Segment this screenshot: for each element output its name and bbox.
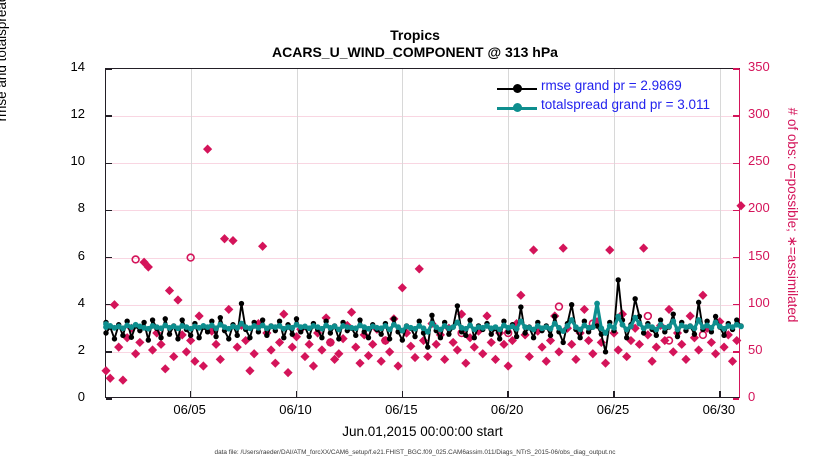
series-marker [450, 324, 456, 330]
obs-assimilated-marker [652, 343, 661, 352]
series-marker [146, 337, 151, 342]
obs-assimilated-marker [300, 352, 309, 361]
series-marker [632, 315, 638, 321]
series-marker [129, 335, 134, 340]
series-marker [307, 334, 312, 339]
obs-assimilated-marker [216, 355, 225, 364]
obs-assimilated-marker [478, 349, 487, 358]
series-marker [378, 331, 383, 336]
obs-assimilated-marker [601, 359, 610, 368]
obs-assimilated-marker [279, 310, 288, 319]
series-marker [603, 349, 608, 354]
series-marker [399, 328, 405, 334]
series-marker [637, 321, 643, 327]
series-marker [518, 318, 524, 324]
series-marker [565, 323, 571, 329]
series-marker [412, 334, 417, 339]
obs-assimilated-marker [258, 242, 267, 251]
series-marker [120, 333, 125, 338]
series-marker [281, 335, 286, 340]
series-marker [654, 333, 659, 338]
series-marker [319, 335, 324, 340]
obs-assimilated-marker [368, 340, 377, 349]
obs-assimilated-marker [182, 347, 191, 356]
obs-assimilated-marker [440, 355, 449, 364]
series-marker [463, 333, 468, 338]
x-axis-tick-06/05: 06/05 [155, 402, 225, 417]
page-title: Tropics [0, 27, 830, 43]
series-marker [666, 324, 672, 330]
obs-assimilated-marker [491, 355, 500, 364]
obs-assimilated-marker [639, 244, 648, 253]
series-marker [497, 327, 503, 333]
obs-assimilated-marker [432, 340, 441, 349]
series-marker [522, 330, 527, 335]
obs-assimilated-marker [199, 361, 208, 370]
obs-assimilated-marker [584, 336, 593, 345]
obs-assimilated-marker [283, 368, 292, 377]
series-marker [548, 326, 554, 332]
series-marker [336, 336, 341, 341]
obs-assimilated-marker [635, 340, 644, 349]
series-marker [387, 327, 393, 333]
series-marker [425, 344, 430, 349]
y-axis-right-tick-200: 200 [748, 200, 794, 215]
series-marker [264, 333, 269, 338]
series-marker [353, 333, 358, 338]
series-marker [180, 317, 185, 322]
x-axis-tick-06/20: 06/20 [472, 402, 542, 417]
series-marker [675, 327, 681, 333]
obs-assimilated-marker [118, 376, 127, 385]
obs-assimilated-marker [470, 343, 479, 352]
obs-assimilated-markers [101, 145, 745, 385]
series-marker [615, 314, 621, 320]
series-marker [713, 314, 718, 319]
series-marker [624, 335, 629, 340]
series-marker [429, 313, 434, 318]
obs-assimilated-marker [707, 338, 716, 347]
page-subtitle: ACARS_U_WIND_COMPONENT @ 313 hPa [0, 44, 830, 60]
obs-assimilated-marker [169, 352, 178, 361]
x-axis-tick-06/10: 06/10 [261, 402, 331, 417]
legend-label: rmse grand pr = 2.9869 [541, 78, 682, 93]
series-marker [196, 335, 201, 340]
series-marker [260, 317, 265, 322]
obs-assimilated-marker [487, 338, 496, 347]
series-marker [235, 333, 240, 338]
series-marker [598, 325, 604, 331]
y-axis-right-tick-150: 150 [748, 248, 794, 263]
series-marker [472, 335, 477, 340]
series-marker [497, 336, 502, 341]
obs-assimilated-marker [732, 336, 741, 345]
chart-page: Tropics ACARS_U_WIND_COMPONENT @ 313 hPa… [0, 0, 830, 470]
series-marker [455, 303, 460, 308]
series-marker [103, 321, 109, 327]
obs-assimilated-marker [114, 343, 123, 352]
series-marker [328, 330, 333, 335]
obs-assimilated-marker [669, 347, 678, 356]
legend-marker-dot [513, 84, 522, 93]
series-marker [632, 296, 637, 301]
series-marker [167, 331, 172, 336]
series-marker [357, 317, 362, 322]
obs-assimilated-marker [351, 343, 360, 352]
obs-assimilated-marker [728, 357, 737, 366]
series-marker [175, 336, 180, 341]
series-marker [620, 322, 626, 328]
obs-assimilated-marker [423, 352, 432, 361]
obs-assimilated-marker [736, 201, 745, 210]
legend-label: totalspread grand pr = 3.011 [541, 97, 710, 112]
series-marker [226, 336, 231, 341]
series-marker [552, 314, 557, 319]
series-marker [628, 324, 634, 330]
series-marker [141, 320, 146, 325]
obs-assimilated-marker [449, 338, 458, 347]
legend-marker-dot [513, 103, 522, 112]
obs-assimilated-marker [385, 347, 394, 356]
obs-assimilated-marker [377, 357, 386, 366]
obs-assimilated-marker [288, 343, 297, 352]
series-marker [590, 324, 596, 330]
obs-assimilated-marker [398, 283, 407, 292]
obs-assimilated-marker [233, 343, 242, 352]
obs-assimilated-marker [224, 305, 233, 314]
obs-assimilated-marker [220, 234, 229, 243]
series-marker [514, 326, 520, 332]
obs-assimilated-marker [161, 364, 170, 373]
series-marker [518, 304, 523, 309]
datafile-caption: data file: /Users/raeder/DAI/ATM_forcXX/… [0, 449, 830, 456]
series-marker [603, 330, 609, 336]
series-marker [150, 317, 155, 322]
x-axis-tick-06/25: 06/25 [578, 402, 648, 417]
legend-item-totalspread[interactable]: totalspread grand pr = 3.011 [497, 99, 737, 118]
obs-assimilated-marker [406, 342, 415, 351]
obs-assimilated-marker [686, 311, 695, 320]
obs-assimilated-marker [211, 340, 220, 349]
series-marker [234, 325, 240, 331]
obs-assimilated-marker [173, 295, 182, 304]
obs-assimilated-marker [101, 366, 110, 375]
series-marker [738, 324, 744, 330]
obs-assimilated-marker [537, 343, 546, 352]
series-marker [696, 317, 702, 323]
y-axis-left-tick-10: 10 [45, 153, 85, 168]
series-marker [531, 335, 536, 340]
series-marker [366, 335, 371, 340]
y-axis-right-tick-50: 50 [748, 342, 794, 357]
y-axis-left-tick-8: 8 [45, 200, 85, 215]
obs-assimilated-marker [250, 349, 259, 358]
series-marker [467, 323, 473, 329]
obs-assimilated-marker [156, 340, 165, 349]
y-axis-left-tick-12: 12 [45, 106, 85, 121]
obs-assimilated-marker [694, 345, 703, 354]
obs-assimilated-marker [309, 361, 318, 370]
data-series-canvas [106, 69, 741, 399]
obs-assimilated-marker [580, 305, 589, 314]
obs-assimilated-marker [698, 291, 707, 300]
obs-assimilated-marker [135, 338, 144, 347]
obs-assimilated-marker [394, 361, 403, 370]
obs-assimilated-marker [228, 236, 237, 245]
obs-assimilated-marker [453, 345, 462, 354]
obs-assimilated-marker [355, 359, 364, 368]
y-axis-left-tick-6: 6 [45, 248, 85, 263]
series-marker [454, 319, 460, 325]
obs-possible-marker [132, 256, 139, 263]
obs-assimilated-marker [305, 340, 314, 349]
obs-assimilated-marker [267, 345, 276, 354]
series-marker [569, 302, 574, 307]
y-axis-right-tick-350: 350 [748, 59, 794, 74]
obs-assimilated-marker [719, 343, 728, 352]
series-marker [561, 340, 566, 345]
y-axis-right-tick-250: 250 [748, 153, 794, 168]
series-marker [103, 330, 108, 335]
series-marker [611, 325, 617, 331]
obs-assimilated-marker [571, 355, 580, 364]
obs-assimilated-marker [482, 311, 491, 320]
series-marker [438, 335, 443, 340]
obs-assimilated-marker [588, 349, 597, 358]
obs-assimilated-marker [317, 345, 326, 354]
series-marker [446, 331, 451, 336]
series-marker [387, 336, 392, 341]
y-axis-left-tick-0: 0 [45, 389, 85, 404]
series-marker [467, 317, 472, 322]
series-marker [218, 315, 223, 320]
series-marker [577, 327, 583, 333]
series-marker [239, 301, 244, 306]
obs-assimilated-marker [554, 347, 563, 356]
obs-assimilated-marker [516, 291, 525, 300]
series-marker [594, 301, 600, 307]
obs-assimilated-marker [410, 353, 419, 362]
series-marker [713, 319, 719, 325]
series-marker [670, 318, 676, 324]
y-axis-left-tick-4: 4 [45, 295, 85, 310]
obs-assimilated-marker [461, 359, 470, 368]
series-marker [577, 335, 582, 340]
series-marker [247, 335, 252, 340]
obs-assimilated-marker [525, 352, 534, 361]
obs-assimilated-marker [504, 361, 513, 370]
series-marker [653, 327, 659, 333]
series-marker [616, 277, 621, 282]
obs-assimilated-marker [106, 374, 115, 383]
series-marker [552, 321, 558, 327]
obs-assimilated-marker [203, 145, 212, 154]
x-axis-tick-06/30: 06/30 [684, 402, 754, 417]
y-axis-right-tick-0: 0 [748, 389, 794, 404]
series-marker [721, 333, 726, 338]
obs-assimilated-marker [271, 359, 280, 368]
obs-assimilated-marker [190, 357, 199, 366]
series-marker [692, 325, 698, 331]
series-marker [708, 325, 714, 331]
series-marker [560, 328, 566, 334]
series-marker [569, 317, 575, 323]
y-axis-left-tick-2: 2 [45, 342, 85, 357]
obs-assimilated-marker [529, 245, 538, 254]
obs-assimilated-marker [148, 345, 157, 354]
obs-assimilated-marker [415, 264, 424, 273]
obs-possible-marker [644, 313, 651, 320]
series-marker [675, 334, 680, 339]
series-marker [696, 300, 701, 305]
series-marker [158, 335, 163, 340]
series-marker [400, 337, 405, 342]
obs-possible-marker [556, 303, 563, 310]
y-axis-left-tick-14: 14 [45, 59, 85, 74]
series-marker [671, 311, 676, 316]
obs-assimilated-marker [677, 340, 686, 349]
series-marker [290, 331, 295, 336]
series-marker [425, 329, 431, 335]
series-marker [294, 316, 299, 321]
obs-assimilated-marker [165, 286, 174, 295]
obs-assimilated-marker [567, 340, 576, 349]
series-marker [489, 331, 494, 336]
series-marker [112, 336, 117, 341]
obs-assimilated-marker [605, 245, 614, 254]
series-marker [391, 316, 396, 321]
obs-assimilated-marker [559, 244, 568, 253]
x-axis-label: Jun.01,2015 00:00:00 start [105, 424, 740, 439]
series-marker [548, 333, 553, 338]
obs-assimilated-marker [347, 308, 356, 317]
obs-assimilated-marker [364, 351, 373, 360]
y-axis-right-tick-300: 300 [748, 106, 794, 121]
series-marker [188, 333, 193, 338]
obs-possible-marker [700, 331, 707, 338]
obs-assimilated-marker [614, 345, 623, 354]
obs-assimilated-marker [542, 357, 551, 366]
y-axis-right-tick-100: 100 [748, 295, 794, 310]
obs-assimilated-marker [131, 349, 140, 358]
obs-assimilated-marker [648, 357, 657, 366]
obs-assimilated-marker [711, 349, 720, 358]
obs-assimilated-marker [195, 311, 204, 320]
obs-assimilated-marker [622, 352, 631, 361]
series-marker [514, 334, 519, 339]
chart-legend: rmse grand pr = 2.9869totalspread grand … [497, 80, 737, 118]
obs-assimilated-marker [245, 366, 254, 375]
x-axis-tick-06/15: 06/15 [366, 402, 436, 417]
obs-possible-marker [187, 254, 194, 261]
y-axis-left-label: rmse and totalspread [0, 0, 9, 168]
series-marker [163, 316, 168, 321]
series-marker [692, 331, 697, 336]
obs-assimilated-marker [110, 300, 119, 309]
series-marker [213, 334, 218, 339]
obs-assimilated-marker [681, 355, 690, 364]
